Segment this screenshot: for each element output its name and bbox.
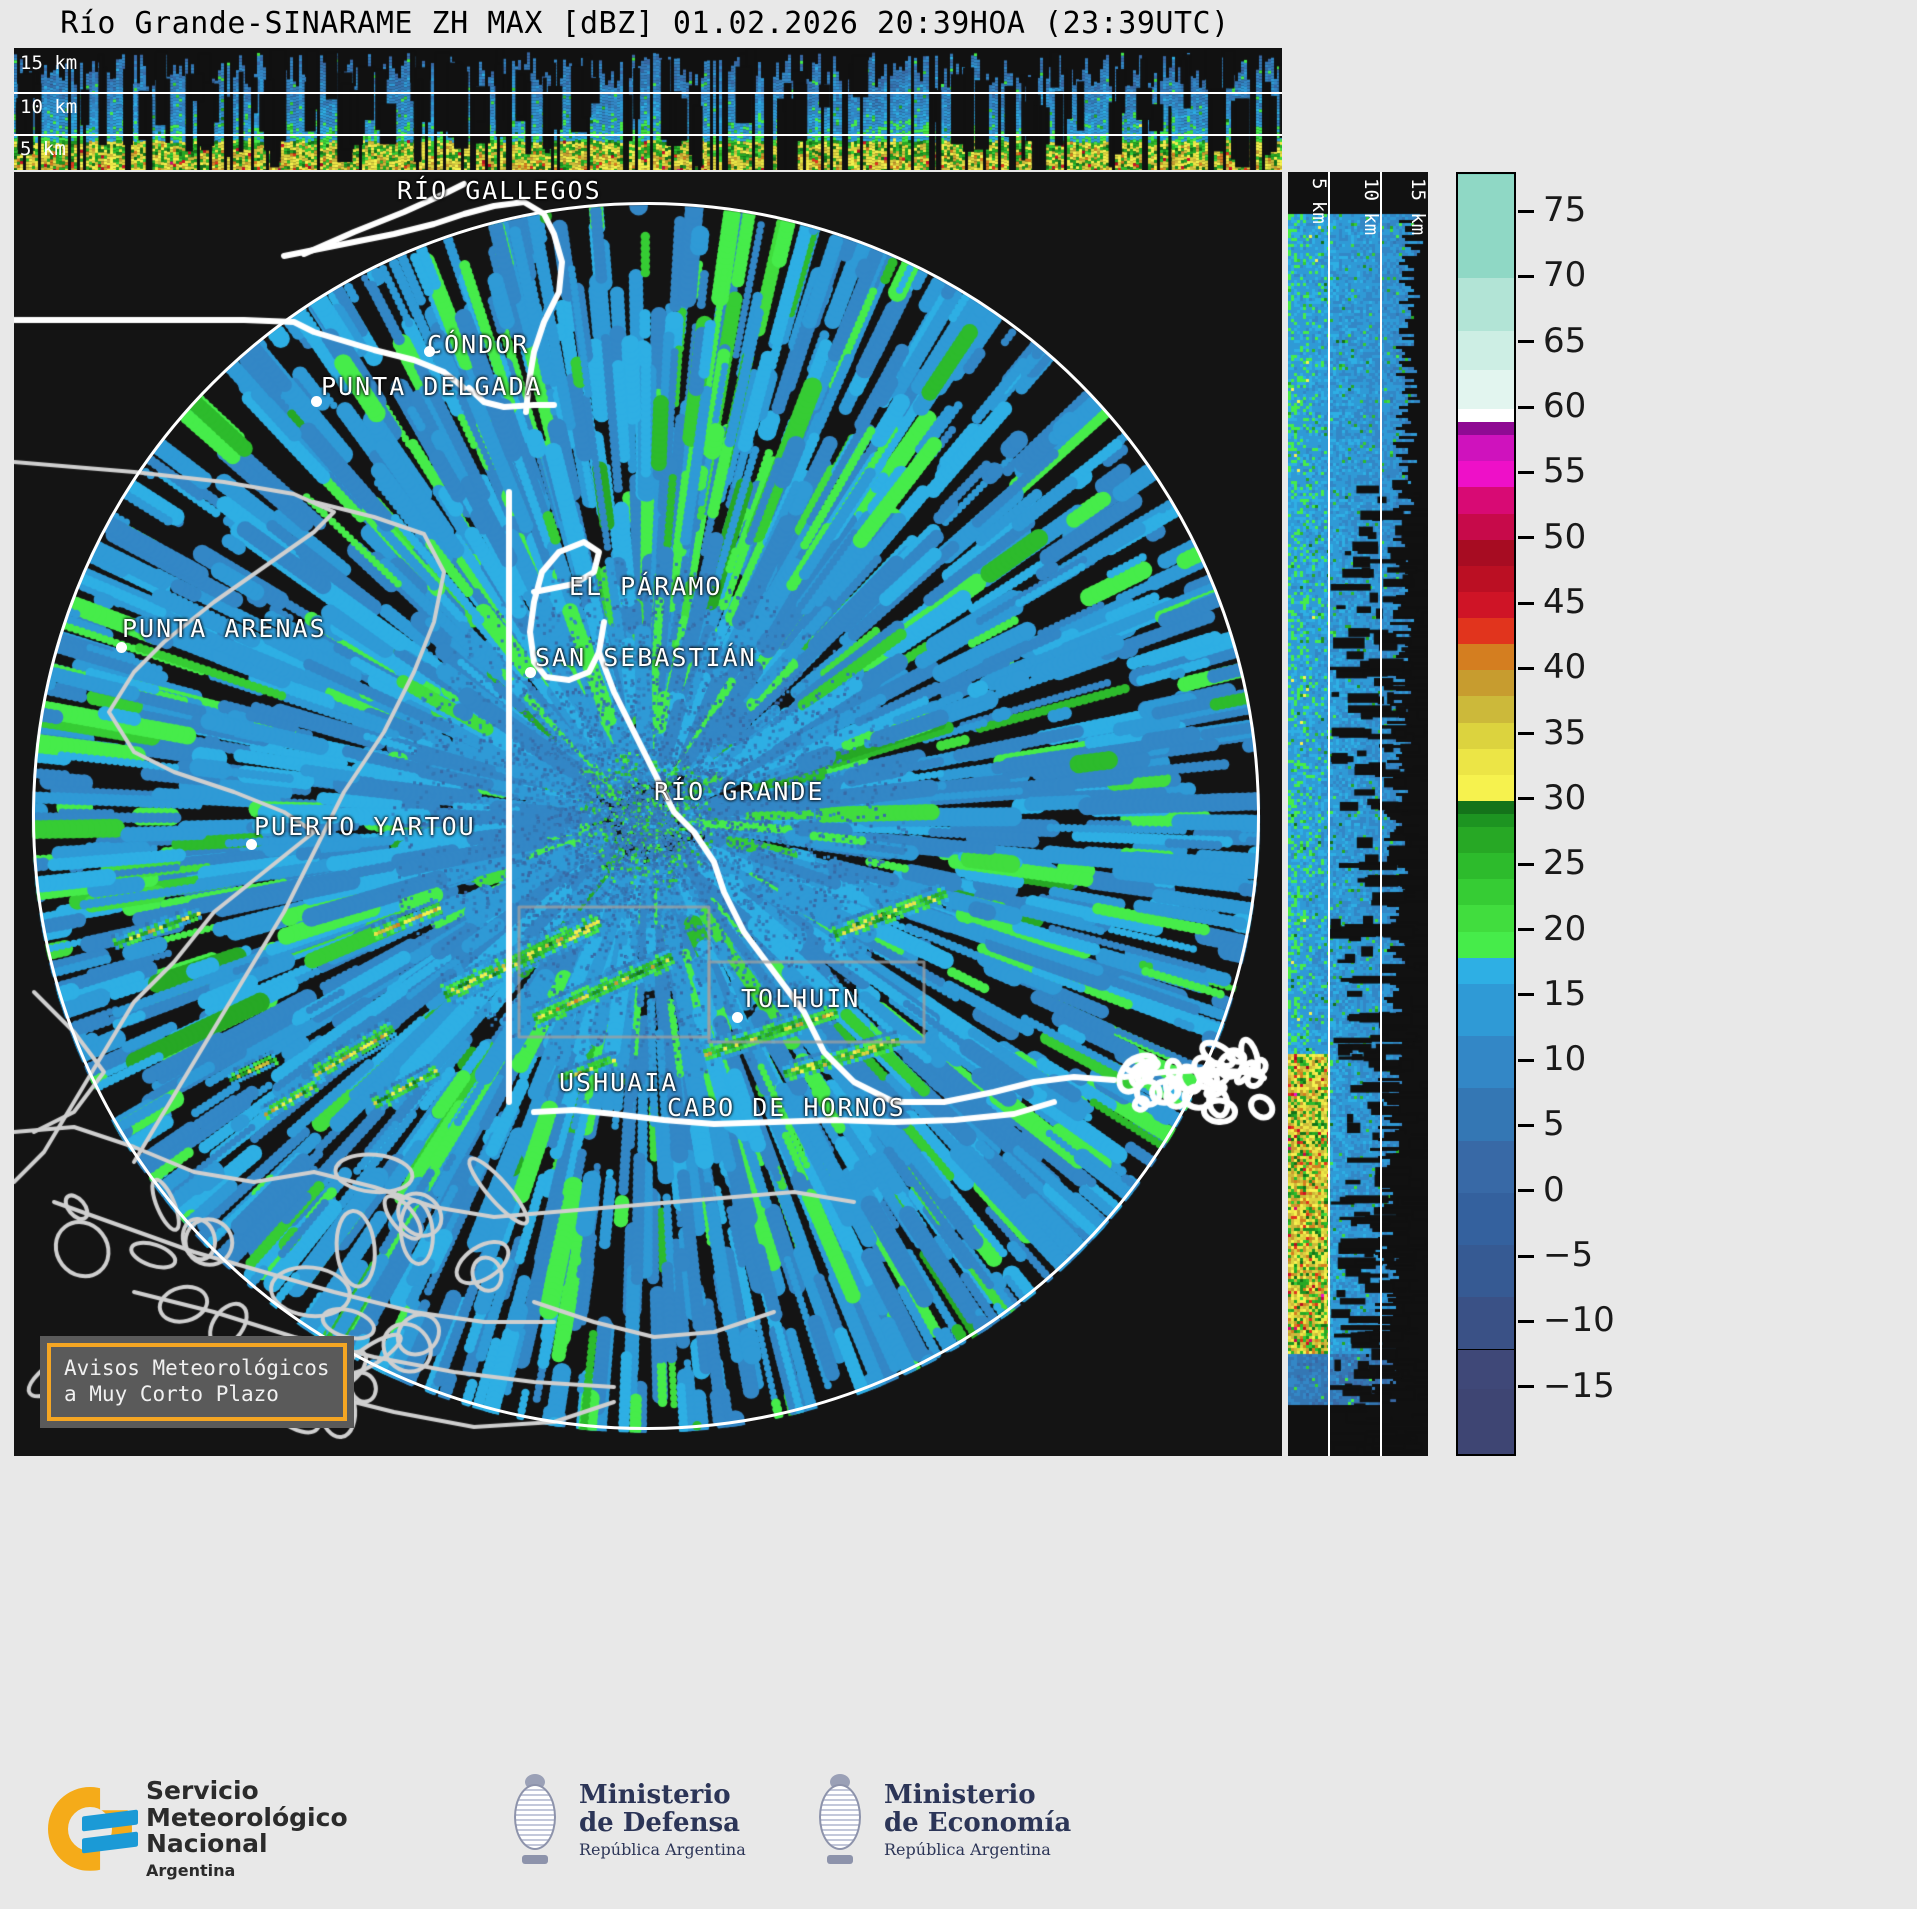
- colorbar-tick-label: 0: [1543, 1173, 1565, 1207]
- colorbar-tick-label: 70: [1543, 258, 1586, 292]
- colorbar-tick-mark: [1518, 602, 1534, 605]
- range-label-5km: 5 km: [1308, 178, 1330, 224]
- city-label-r-o-gallegos: RÍO GALLEGOS: [397, 176, 602, 205]
- top-cross-section-panel: 15 km 10 km 5 km: [14, 48, 1282, 170]
- colorbar-tick-label: 20: [1543, 912, 1586, 946]
- colorbar-tick-label: 35: [1543, 716, 1586, 750]
- smn-line-2: Meteorológico: [146, 1805, 348, 1832]
- warning-badge[interactable]: Avisos Meteorológicos a Muy Corto Plazo: [40, 1336, 354, 1429]
- colorbar-segment: [1458, 592, 1514, 618]
- ministry-defensa-line-2: de Defensa: [579, 1809, 746, 1837]
- colorbar-tick-label: −15: [1543, 1369, 1615, 1403]
- city-marker-dot: [246, 839, 257, 850]
- colorbar-tick-mark: [1518, 863, 1534, 866]
- colorbar-tick-label: 60: [1543, 389, 1586, 423]
- shield-base-shape: [522, 1855, 548, 1864]
- ministry-defensa-line-1: Ministerio: [579, 1781, 746, 1809]
- colorbar-tick-label: 55: [1543, 454, 1586, 488]
- smn-line-1: Servicio: [146, 1778, 348, 1805]
- city-label-punta-arenas: PUNTA ARENAS: [122, 614, 327, 643]
- colorbar-segment: [1458, 984, 1514, 1036]
- colorbar-segment: [1458, 853, 1514, 879]
- range-label-10km: 10 km: [1360, 178, 1382, 235]
- colorbar-segment: [1458, 1036, 1514, 1088]
- colorbar-tick-label: 5: [1543, 1107, 1565, 1141]
- colorbar-tick-mark: [1518, 928, 1534, 931]
- ministry-economia-line-1: Ministerio: [884, 1781, 1071, 1809]
- colorbar-segment: [1458, 958, 1514, 984]
- colorbar-segment: [1458, 814, 1514, 827]
- colorbar-tick-mark: [1518, 1255, 1534, 1258]
- city-label-tolhuin: TOLHUIN: [741, 984, 860, 1013]
- smn-logo-text: Servicio Meteorológico Nacional Argentin…: [146, 1778, 348, 1880]
- colorbar-segment: [1458, 1088, 1514, 1140]
- warning-badge-inner: Avisos Meteorológicos a Muy Corto Plazo: [47, 1343, 347, 1422]
- colorbar-segment: [1458, 1297, 1514, 1349]
- colorbar-tick-label: 75: [1543, 193, 1586, 227]
- colorbar-segment: [1458, 514, 1514, 540]
- smn-line-4: Argentina: [146, 1861, 348, 1880]
- range-gridline-5km: [1328, 172, 1330, 1456]
- colorbar-segment: [1458, 1245, 1514, 1297]
- radar-product-page: Río Grande-SINARAME ZH MAX [dBZ] 01.02.2…: [0, 0, 1917, 1909]
- city-marker-dot: [424, 346, 435, 357]
- side-cross-section-panel: 5 km 10 km 15 km: [1288, 172, 1428, 1456]
- city-label-el-p-ramo: EL PÁRAMO: [569, 572, 722, 601]
- smn-logo-icon: [48, 1787, 132, 1871]
- smn-line-3: Nacional: [146, 1831, 348, 1858]
- colorbar-tick-label: 10: [1543, 1042, 1586, 1076]
- colorbar-segment: [1458, 370, 1514, 409]
- colorbar-segment: [1458, 422, 1514, 435]
- colorbar-segment: [1458, 827, 1514, 853]
- radar-range-ring: [32, 202, 1260, 1430]
- colorbar-tick-mark: [1518, 536, 1534, 539]
- city-marker-dot: [311, 396, 322, 407]
- height-label-10km: 10 km: [20, 96, 77, 118]
- colorbar-segment: [1458, 618, 1514, 644]
- colorbar-tick-mark: [1518, 406, 1534, 409]
- colorbar-segment: [1458, 1389, 1514, 1454]
- top-cross-section-canvas: [14, 48, 1282, 170]
- colorbar-tick-label: −5: [1543, 1238, 1593, 1272]
- colorbar-tick-mark: [1518, 340, 1534, 343]
- city-label-punta-delgada: PUNTA DELGADA: [321, 372, 543, 401]
- colorbar-segment: [1458, 174, 1514, 278]
- colorbar-tick-label: −10: [1543, 1303, 1615, 1337]
- colorbar-tick-layer: −15−10−5051015202530354045505560657075: [1518, 172, 1698, 1456]
- colorbar-segment: [1458, 801, 1514, 814]
- logo-ministerio-de-economia: Ministerio de Economía República Argenti…: [810, 1774, 1071, 1866]
- page-title: Río Grande-SINARAME ZH MAX [dBZ] 01.02.2…: [0, 6, 1290, 41]
- colorbar-tick-mark: [1518, 1059, 1534, 1062]
- city-label-r-o-grande: RÍO GRANDE: [654, 777, 825, 806]
- colorbar-tick-label: 40: [1543, 650, 1586, 684]
- colorbar-tick-mark: [1518, 275, 1534, 278]
- colorbar-segment: [1458, 775, 1514, 801]
- range-gridline-10km: [1380, 172, 1382, 1456]
- range-label-15km: 15 km: [1407, 178, 1428, 235]
- ministry-defensa-line-3: República Argentina: [579, 1840, 746, 1859]
- colorbar-tick-mark: [1518, 1385, 1534, 1388]
- colorbar-segment: [1458, 461, 1514, 487]
- colorbar-tick-label: 50: [1543, 520, 1586, 554]
- city-marker-dot: [525, 667, 536, 678]
- argentina-coat-of-arms-icon: [505, 1774, 565, 1866]
- city-label-cabo-de-hornos: CABO DE HORNOS: [667, 1093, 906, 1122]
- colorbar-segment: [1458, 879, 1514, 905]
- colorbar-tick-mark: [1518, 993, 1534, 996]
- colorbar-segment: [1458, 723, 1514, 749]
- colorbar-segment: [1458, 644, 1514, 670]
- city-marker-dot: [732, 1012, 743, 1023]
- colorbar-segment: [1458, 331, 1514, 370]
- radar-ppi-panel[interactable]: RÍO GALLEGOSCÓNDORPUNTA DELGADAEL PÁRAMO…: [14, 172, 1282, 1456]
- colorbar-tick-mark: [1518, 1124, 1534, 1127]
- colorbar-tick-mark: [1518, 667, 1534, 670]
- logo-servicio-meteorologico-nacional: Servicio Meteorológico Nacional Argentin…: [48, 1778, 348, 1880]
- colorbar-tick-label: 25: [1543, 846, 1586, 880]
- colorbar-tick-mark: [1518, 210, 1534, 213]
- colorbar-segment: [1458, 1350, 1514, 1389]
- colorbar-tick-mark: [1518, 732, 1534, 735]
- colorbar-segment: [1458, 409, 1514, 422]
- city-label-puerto-yartou: PUERTO YARTOU: [254, 812, 476, 841]
- city-label-san-sebasti-n: SAN SEBASTIÁN: [535, 643, 757, 672]
- city-label-ushuaia: USHUAIA: [559, 1068, 678, 1097]
- height-label-5km: 5 km: [20, 138, 66, 160]
- ministry-economia-text: Ministerio de Economía República Argenti…: [884, 1781, 1071, 1859]
- height-gridline-5km: [14, 134, 1282, 136]
- colorbar-tick-mark: [1518, 1189, 1534, 1192]
- colorbar-tick-mark: [1518, 797, 1534, 800]
- height-gridline-10km: [14, 92, 1282, 94]
- city-marker-dot: [116, 642, 127, 653]
- colorbar-segment: [1458, 905, 1514, 931]
- colorbar-segment: [1458, 540, 1514, 566]
- colorbar-tick-label: 45: [1543, 585, 1586, 619]
- colorbar-segment: [1458, 749, 1514, 775]
- colorbar: [1456, 172, 1516, 1456]
- colorbar-segment: [1458, 566, 1514, 592]
- logo-ministerio-de-defensa: Ministerio de Defensa República Argentin…: [505, 1774, 746, 1866]
- colorbar-segment: [1458, 696, 1514, 722]
- footer-logos: Servicio Meteorológico Nacional Argentin…: [0, 1760, 1290, 1909]
- colorbar-tick-mark: [1518, 1320, 1534, 1323]
- shield-oval-shape: [819, 1784, 861, 1850]
- colorbar-segment: [1458, 487, 1514, 513]
- colorbar-segment: [1458, 670, 1514, 696]
- colorbar-tick-label: 65: [1543, 324, 1586, 358]
- height-label-15km: 15 km: [20, 52, 77, 74]
- ministry-economia-line-2: de Economía: [884, 1809, 1071, 1837]
- ministry-defensa-text: Ministerio de Defensa República Argentin…: [579, 1781, 746, 1859]
- colorbar-segment: [1458, 1193, 1514, 1245]
- colorbar-segment: [1458, 932, 1514, 958]
- ministry-economia-line-3: República Argentina: [884, 1840, 1071, 1859]
- colorbar-segment: [1458, 1141, 1514, 1193]
- colorbar-segment: [1458, 435, 1514, 461]
- colorbar-segment: [1458, 278, 1514, 330]
- warning-line-2: a Muy Corto Plazo: [64, 1381, 330, 1407]
- colorbar-tick-mark: [1518, 471, 1534, 474]
- colorbar-tick-label: 15: [1543, 977, 1586, 1011]
- colorbar-tick-label: 30: [1543, 781, 1586, 815]
- shield-oval-shape: [514, 1784, 556, 1850]
- warning-line-1: Avisos Meteorológicos: [64, 1355, 330, 1381]
- side-cross-section-canvas: [1288, 172, 1428, 1456]
- argentina-coat-of-arms-icon: [810, 1774, 870, 1866]
- city-label-c-ndor: CÓNDOR: [427, 330, 529, 359]
- shield-base-shape: [827, 1855, 853, 1864]
- colorbar-segment: [1458, 174, 1514, 175]
